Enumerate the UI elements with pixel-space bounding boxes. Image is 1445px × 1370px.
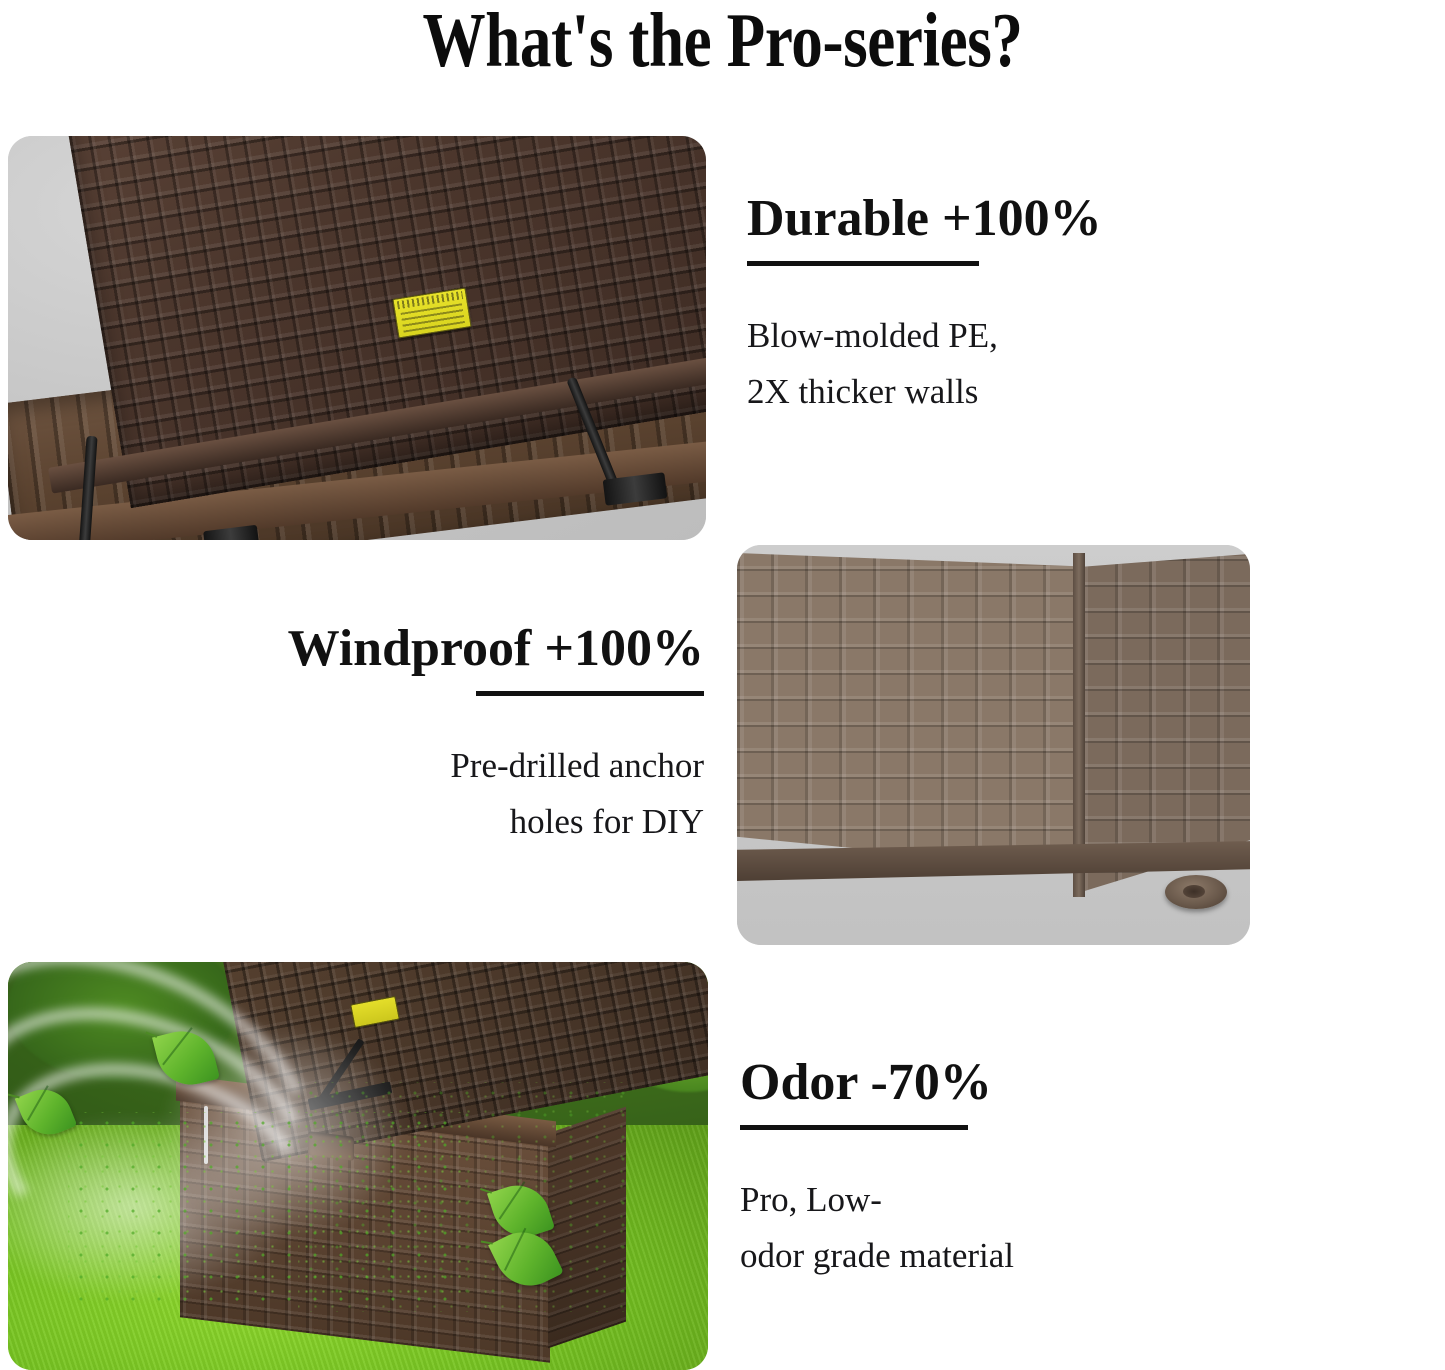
odor-particles-2 (298, 1082, 628, 1312)
feature-odor: Odor -70% Pro, Low- odor grade material (740, 1056, 1300, 1285)
photo-open-lid-closeup (8, 136, 706, 540)
feature-windproof-headline: Windproof +100% (180, 622, 704, 677)
feature-durable-headline: Durable +100% (747, 192, 1307, 247)
infographic-page: What's the Pro-series? Durable +100% Blo… (0, 0, 1445, 1370)
feature-windproof-rule (476, 691, 704, 696)
feature-odor-headline: Odor -70% (740, 1056, 1300, 1111)
pre-drilled-anchor-hole (1165, 875, 1227, 909)
feature-windproof: Windproof +100% Pre-drilled anchor holes… (180, 622, 704, 851)
box-front-weave-face (737, 553, 1077, 883)
feature-odor-body-line-2: odor grade material (740, 1228, 1300, 1285)
feature-windproof-body-line-1: Pre-drilled anchor (180, 738, 704, 795)
feature-durable-body: Blow-molded PE, 2X thicker walls (747, 308, 1307, 421)
feature-odor-body-line-1: Pro, Low- (740, 1172, 1300, 1229)
feature-durable-body-line-2: 2X thicker walls (747, 364, 1307, 421)
leaf-vein (163, 1027, 194, 1065)
feature-windproof-body-line-2: holes for DIY (180, 794, 704, 851)
feature-odor-body: Pro, Low- odor grade material (740, 1172, 1300, 1285)
feature-odor-rule (740, 1125, 968, 1130)
feature-durable-rule (747, 261, 979, 266)
feature-durable: Durable +100% Blow-molded PE, 2X thicker… (747, 192, 1307, 421)
feature-durable-body-line-1: Blow-molded PE, (747, 308, 1307, 365)
feature-windproof-body: Pre-drilled anchor holes for DIY (180, 738, 704, 851)
photo-corner-weave-closeup (737, 545, 1250, 945)
page-title: What's the Pro-series? (130, 0, 1315, 85)
